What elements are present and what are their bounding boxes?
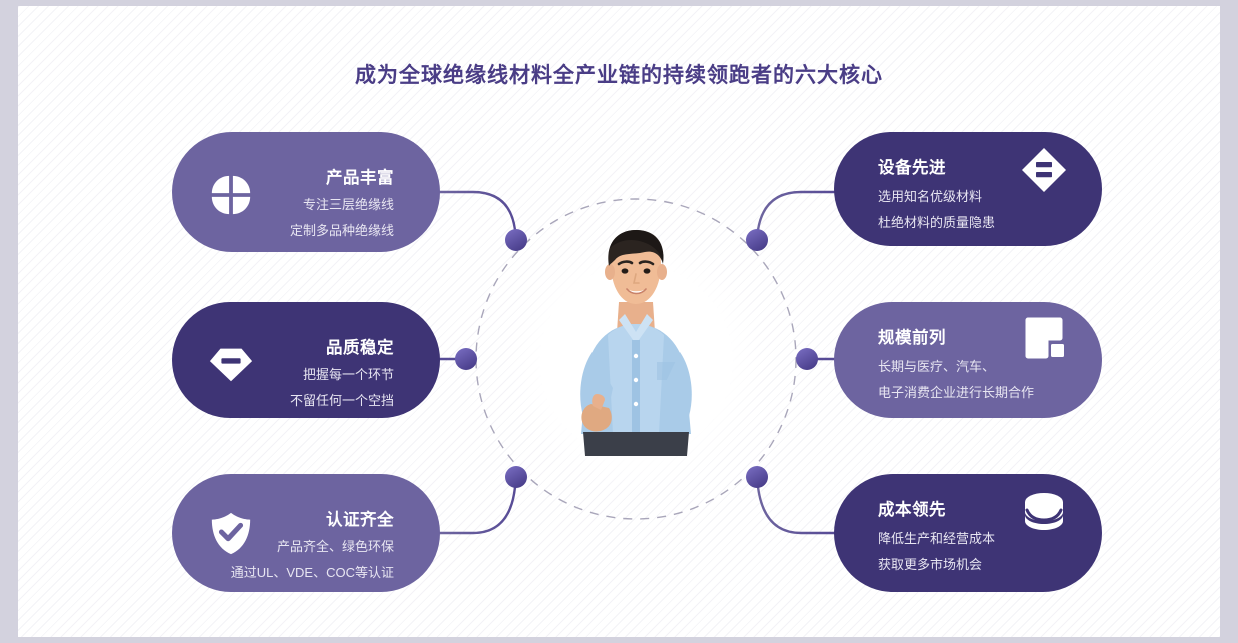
card-title: 规模前列 [878, 324, 946, 348]
card-product-rich[interactable]: 产品丰富 专注三层绝缘线 定制多品种绝缘线 [172, 132, 440, 252]
infographic-stage: 成为全球绝缘线材料全产业链的持续领跑者的六大核心 [0, 0, 1238, 643]
card-title: 品质稳定 [326, 334, 394, 358]
diamond-bars-icon [1020, 146, 1068, 194]
card-line-2: 电子消费企业进行长期合作 [878, 382, 1034, 401]
card-line-2: 杜绝材料的质量隐患 [878, 212, 995, 231]
card-certification-complete[interactable]: 认证齐全 产品齐全、绿色环保 通过UL、VDE、COC等认证 [172, 474, 440, 592]
square-notch-icon [1020, 316, 1068, 364]
dot-middle-right [796, 348, 818, 370]
card-line-1: 降低生产和经营成本 [878, 528, 995, 547]
card-title: 产品丰富 [326, 164, 394, 188]
dot-bottom-left [505, 466, 527, 488]
card-title: 认证齐全 [326, 506, 394, 530]
card-equipment-advanced[interactable]: 设备先进 选用知名优级材料 杜绝材料的质量隐患 [834, 132, 1102, 246]
shield-check-icon [208, 510, 254, 556]
connector-bottom-left [440, 487, 515, 533]
card-quality-stable[interactable]: 品质稳定 把握每一个环节 不留任何一个空挡 [172, 302, 440, 418]
dot-top-right [746, 229, 768, 251]
card-line-2: 定制多品种绝缘线 [290, 220, 394, 239]
database-icon [1020, 490, 1068, 538]
hatched-canvas: 成为全球绝缘线材料全产业链的持续领跑者的六大核心 [18, 6, 1220, 637]
dot-bottom-right [746, 466, 768, 488]
four-petal-icon [208, 172, 254, 218]
card-line-1: 专注三层绝缘线 [303, 194, 394, 213]
card-title: 成本领先 [878, 496, 946, 520]
card-cost-leading[interactable]: 成本领先 降低生产和经营成本 获取更多市场机会 [834, 474, 1102, 592]
dot-middle-left [455, 348, 477, 370]
connector-top-right [758, 192, 834, 230]
person-illustration [539, 228, 733, 458]
gem-minus-icon [208, 340, 254, 386]
connector-bottom-right [758, 487, 834, 533]
card-line-1: 选用知名优级材料 [878, 186, 982, 205]
card-line-2: 不留任何一个空挡 [290, 390, 394, 409]
card-line-1: 长期与医疗、汽车、 [878, 356, 995, 375]
card-line-1: 把握每一个环节 [303, 364, 394, 383]
dot-top-left [505, 229, 527, 251]
connector-top-left [440, 192, 515, 230]
card-scale-leading[interactable]: 规模前列 长期与医疗、汽车、 电子消费企业进行长期合作 [834, 302, 1102, 418]
card-line-1: 产品齐全、绿色环保 [277, 536, 394, 555]
card-line-2: 通过UL、VDE、COC等认证 [231, 562, 394, 581]
page-title: 成为全球绝缘线材料全产业链的持续领跑者的六大核心 [18, 59, 1220, 89]
card-line-2: 获取更多市场机会 [878, 554, 982, 573]
card-title: 设备先进 [878, 154, 946, 178]
